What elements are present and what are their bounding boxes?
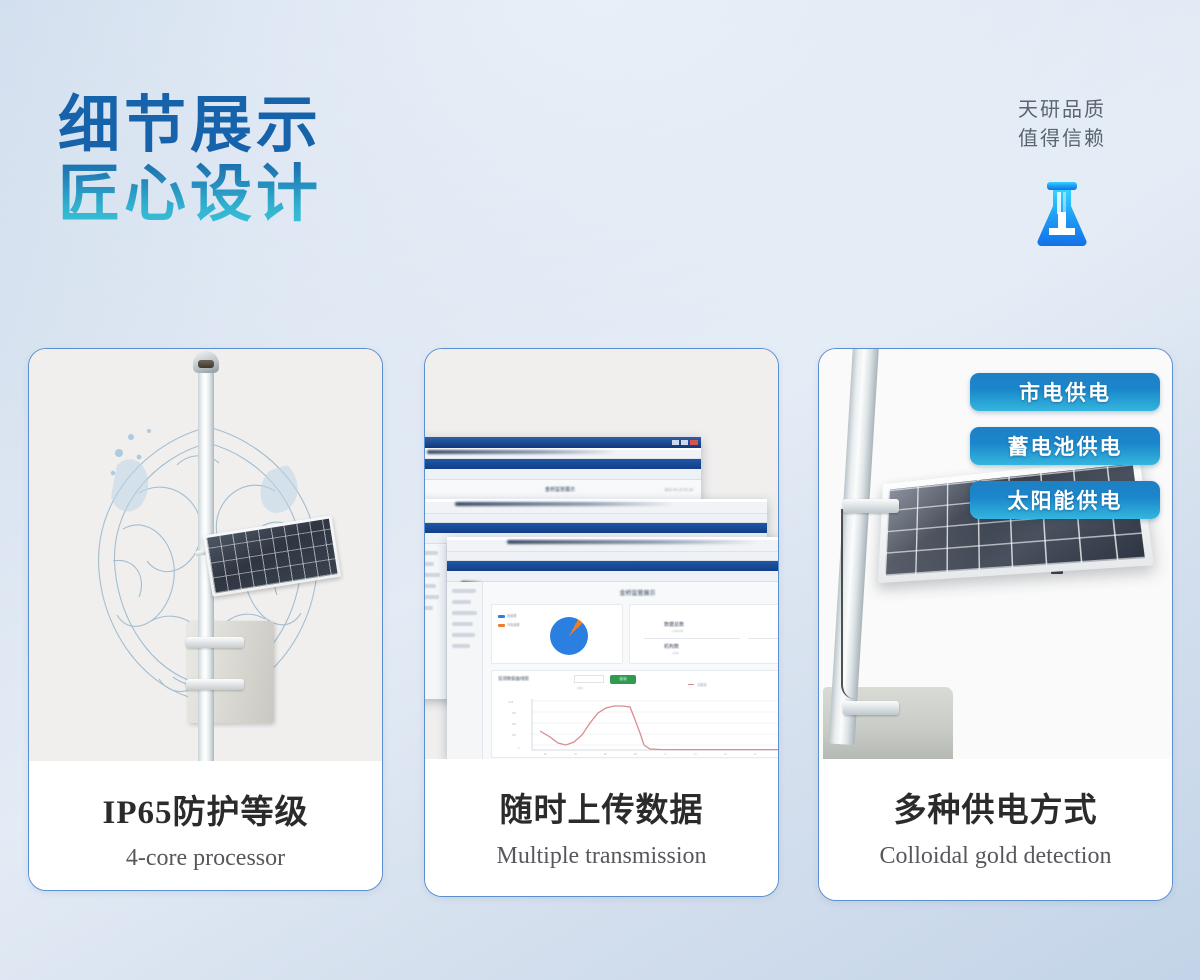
pie-chart: [550, 617, 588, 655]
browser-window-front: 金桥监管展示 在线率 不在线率 数据总数 1234.56: [447, 537, 778, 759]
page-title-line-2: 匠心设计: [58, 161, 322, 230]
window-tabs: [425, 469, 701, 480]
legend-swatch-offline: [498, 624, 505, 627]
card-title-en: Multiple transmission: [497, 843, 707, 870]
chart-panel-title: 监测数据曲线图: [498, 676, 529, 682]
window-addressbar: [425, 450, 701, 459]
card-title-zh: IP65防护等级: [103, 795, 309, 831]
stat-label-1: 数据总数: [664, 621, 684, 628]
svg-text:12: 12: [664, 753, 667, 756]
line-chart-card: 监测数据曲线图 2021 查询 浓度值: [491, 670, 778, 758]
card-caption-ip65: IP65防护等级 4-core processor: [29, 761, 382, 890]
dashboard-title: 金桥监管展示: [425, 480, 701, 493]
badge-label: 蓄电池供电: [1008, 431, 1123, 461]
svg-text:00: 00: [544, 753, 547, 756]
svg-text:0: 0: [518, 747, 520, 750]
pie-chart-card: 在线率 不在线率: [491, 604, 623, 664]
legend-swatch-line: [688, 684, 694, 685]
svg-text:03: 03: [574, 753, 577, 756]
svg-text:06: 06: [604, 753, 607, 756]
window-tabs-2: [447, 571, 778, 582]
cable: [841, 509, 855, 699]
card-title-en: 4-core processor: [126, 845, 285, 872]
badge-mains-power[interactable]: 市电供电: [970, 373, 1160, 411]
card-title-en: Colloidal gold detection: [880, 843, 1112, 870]
brand-block: 天研品质 值得信赖: [972, 96, 1152, 250]
card-caption-power: 多种供电方式 Colloidal gold detection: [819, 759, 1172, 900]
feature-card-transmission[interactable]: 金桥监管展示 2021-01-21 01:24: [424, 348, 779, 897]
flask-icon-wrap: [972, 180, 1152, 250]
feature-card-ip65[interactable]: IP65防护等级 4-core processor: [28, 348, 383, 891]
legend-swatch-online: [498, 615, 505, 618]
flask-icon: [1030, 180, 1094, 250]
card-caption-transmission: 随时上传数据 Multiple transmission: [425, 759, 778, 896]
panel-bracket-upper: [843, 499, 899, 513]
chart-query-button[interactable]: 查询: [610, 675, 636, 684]
card-title-zh: 多种供电方式: [894, 793, 1098, 829]
feature-card-power[interactable]: 市电供电 蓄电池供电 太阳能供电 多种供电方式 Colloidal gold d…: [818, 348, 1173, 901]
svg-text:21: 21: [754, 753, 757, 756]
svg-text:15: 15: [694, 753, 697, 756]
window-tabs: [447, 552, 778, 561]
window-tabs: [425, 514, 767, 523]
pole-clamp-upper: [186, 637, 244, 648]
window-titlebar: [425, 437, 701, 448]
stat-label-2: 机构数: [664, 643, 679, 650]
window-addressbar: [425, 502, 767, 514]
dashboard-date: 2021-01-21 01:24: [664, 487, 693, 492]
power-badges: 市电供电 蓄电池供电 太阳能供电: [970, 373, 1160, 535]
brand-line-2: 值得信赖: [972, 125, 1152, 154]
window-body: 金桥监管展示 在线率 不在线率 数据总数 1234.56: [447, 582, 778, 759]
card-image-power: 市电供电 蓄电池供电 太阳能供电: [819, 349, 1172, 759]
svg-text:900: 900: [512, 712, 517, 715]
sidebar-nav[interactable]: [425, 544, 447, 699]
dashboard-title: 金桥监管展示: [483, 582, 778, 597]
pole-cap: [193, 351, 219, 373]
svg-text:1200: 1200: [508, 701, 514, 704]
stats-card: 数据总数 1234.56 机构数 1234: [629, 604, 778, 664]
pole-clamp-lower: [186, 679, 244, 690]
brand-line-1: 天研品质: [972, 96, 1152, 125]
badge-label: 市电供电: [1019, 377, 1111, 407]
legend-label-offline: 不在线率: [507, 622, 520, 627]
badge-solar-power[interactable]: 太阳能供电: [970, 481, 1160, 519]
card-title-zh: 随时上传数据: [500, 793, 704, 829]
window-ribbon: [447, 561, 778, 571]
badge-label: 太阳能供电: [1008, 485, 1123, 515]
page-title: 细节展示 匠心设计: [58, 92, 322, 231]
legend-label-line: 浓度值: [697, 682, 707, 687]
card-image-ip65: [29, 349, 382, 761]
pole-clamp-lower: [843, 701, 899, 715]
window-addressbar: [447, 540, 778, 552]
sidebar-nav[interactable]: [447, 582, 483, 759]
chart-date-input[interactable]: 2021: [574, 675, 604, 683]
svg-text:18: 18: [724, 753, 727, 756]
card-image-transmission: 金桥监管展示 2021-01-21 01:24: [425, 349, 778, 759]
svg-text:09: 09: [634, 753, 637, 756]
svg-text:600: 600: [512, 723, 517, 726]
svg-text:300: 300: [512, 734, 517, 737]
page-title-line-1: 细节展示: [58, 92, 322, 161]
line-chart-svg: 1200900 6003000 000306 091215 182124: [492, 695, 778, 757]
legend-label-online: 在线率: [507, 613, 517, 618]
window-ribbon: [425, 523, 767, 533]
badge-battery-power[interactable]: 蓄电池供电: [970, 427, 1160, 465]
window-ribbon: [425, 459, 701, 469]
